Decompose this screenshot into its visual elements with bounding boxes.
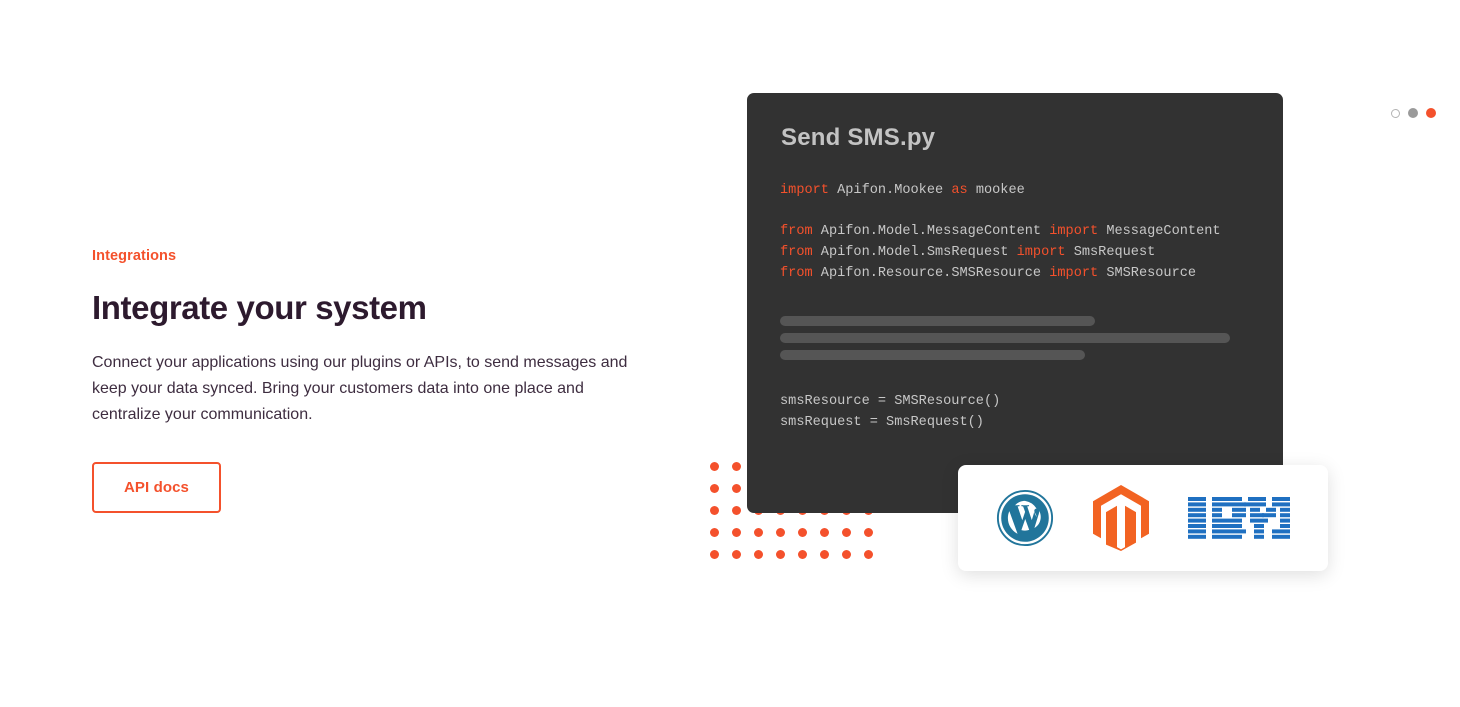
grid-dot xyxy=(732,484,741,493)
ibm-logo[interactable] xyxy=(1188,497,1290,539)
code-text: Apifon.Resource.SMSResource xyxy=(813,266,1050,281)
grid-dot xyxy=(798,550,807,559)
code-keyword: as xyxy=(951,183,967,198)
grid-dot xyxy=(732,528,741,537)
code-skeleton-placeholder xyxy=(780,316,1250,367)
grid-dot xyxy=(820,528,829,537)
code-window-title: Send SMS.py xyxy=(781,124,935,152)
grid-dot xyxy=(842,550,851,559)
orange-dot-icon[interactable] xyxy=(1426,108,1436,118)
grid-dot xyxy=(776,528,785,537)
page-title: Integrate your system xyxy=(92,289,652,328)
code-line: smsResource = SMSResource() xyxy=(780,392,1000,413)
section-description: Connect your applications using our plug… xyxy=(92,350,637,428)
code-text: SMSResource xyxy=(1098,266,1196,281)
hollow-dot-icon[interactable] xyxy=(1391,109,1400,118)
code-keyword: import xyxy=(1049,266,1098,281)
integration-logos-card xyxy=(958,465,1328,571)
window-control-dots[interactable] xyxy=(1391,108,1436,118)
code-text: Apifon.Model.SmsRequest xyxy=(813,245,1017,260)
magento-logo[interactable] xyxy=(1093,485,1149,551)
grey-dot-icon[interactable] xyxy=(1408,108,1418,118)
code-line: smsRequest = SmsRequest() xyxy=(780,413,1000,434)
integrations-section: Integrations Integrate your system Conne… xyxy=(92,248,652,513)
grid-dot xyxy=(710,484,719,493)
code-line: from Apifon.Resource.SMSResource import … xyxy=(780,264,1273,285)
code-keyword: from xyxy=(780,245,813,260)
grid-dot xyxy=(754,550,763,559)
grid-dot xyxy=(710,528,719,537)
code-text: MessageContent xyxy=(1098,224,1220,239)
code-line: from Apifon.Model.SmsRequest import SmsR… xyxy=(780,243,1273,264)
skeleton-bar xyxy=(780,350,1085,360)
code-keyword: import xyxy=(780,183,829,198)
grid-dot xyxy=(732,462,741,471)
grid-dot xyxy=(864,528,873,537)
grid-dot xyxy=(798,528,807,537)
code-keyword: from xyxy=(780,266,813,281)
code-text: Apifon.Model.MessageContent xyxy=(813,224,1050,239)
grid-dot xyxy=(842,528,851,537)
grid-dot xyxy=(776,550,785,559)
code-text: Apifon.Mookee xyxy=(829,183,951,198)
grid-dot xyxy=(710,550,719,559)
code-text: mookee xyxy=(968,183,1025,198)
code-window: Send SMS.py import Apifon.Mookee as mook… xyxy=(747,93,1283,513)
code-text: SmsRequest xyxy=(1066,245,1156,260)
code-line: from Apifon.Model.MessageContent import … xyxy=(780,222,1273,243)
code-block: import Apifon.Mookee as mookeefrom Apifo… xyxy=(780,181,1273,284)
api-docs-button[interactable]: API docs xyxy=(92,462,221,513)
code-keyword: import xyxy=(1017,245,1066,260)
grid-dot xyxy=(754,528,763,537)
code-blank-line xyxy=(780,202,1273,223)
code-keyword: import xyxy=(1049,224,1098,239)
grid-dot xyxy=(864,550,873,559)
section-eyebrow: Integrations xyxy=(92,248,652,265)
grid-dot xyxy=(820,550,829,559)
code-line: import Apifon.Mookee as mookee xyxy=(780,181,1273,202)
skeleton-bar xyxy=(780,316,1095,326)
code-keyword: from xyxy=(780,224,813,239)
code-block-tail: smsResource = SMSResource()smsRequest = … xyxy=(780,392,1000,433)
grid-dot xyxy=(732,506,741,515)
skeleton-bar xyxy=(780,333,1230,343)
grid-dot xyxy=(710,506,719,515)
grid-dot xyxy=(732,550,741,559)
wordpress-logo[interactable] xyxy=(996,489,1054,547)
grid-dot xyxy=(710,462,719,471)
